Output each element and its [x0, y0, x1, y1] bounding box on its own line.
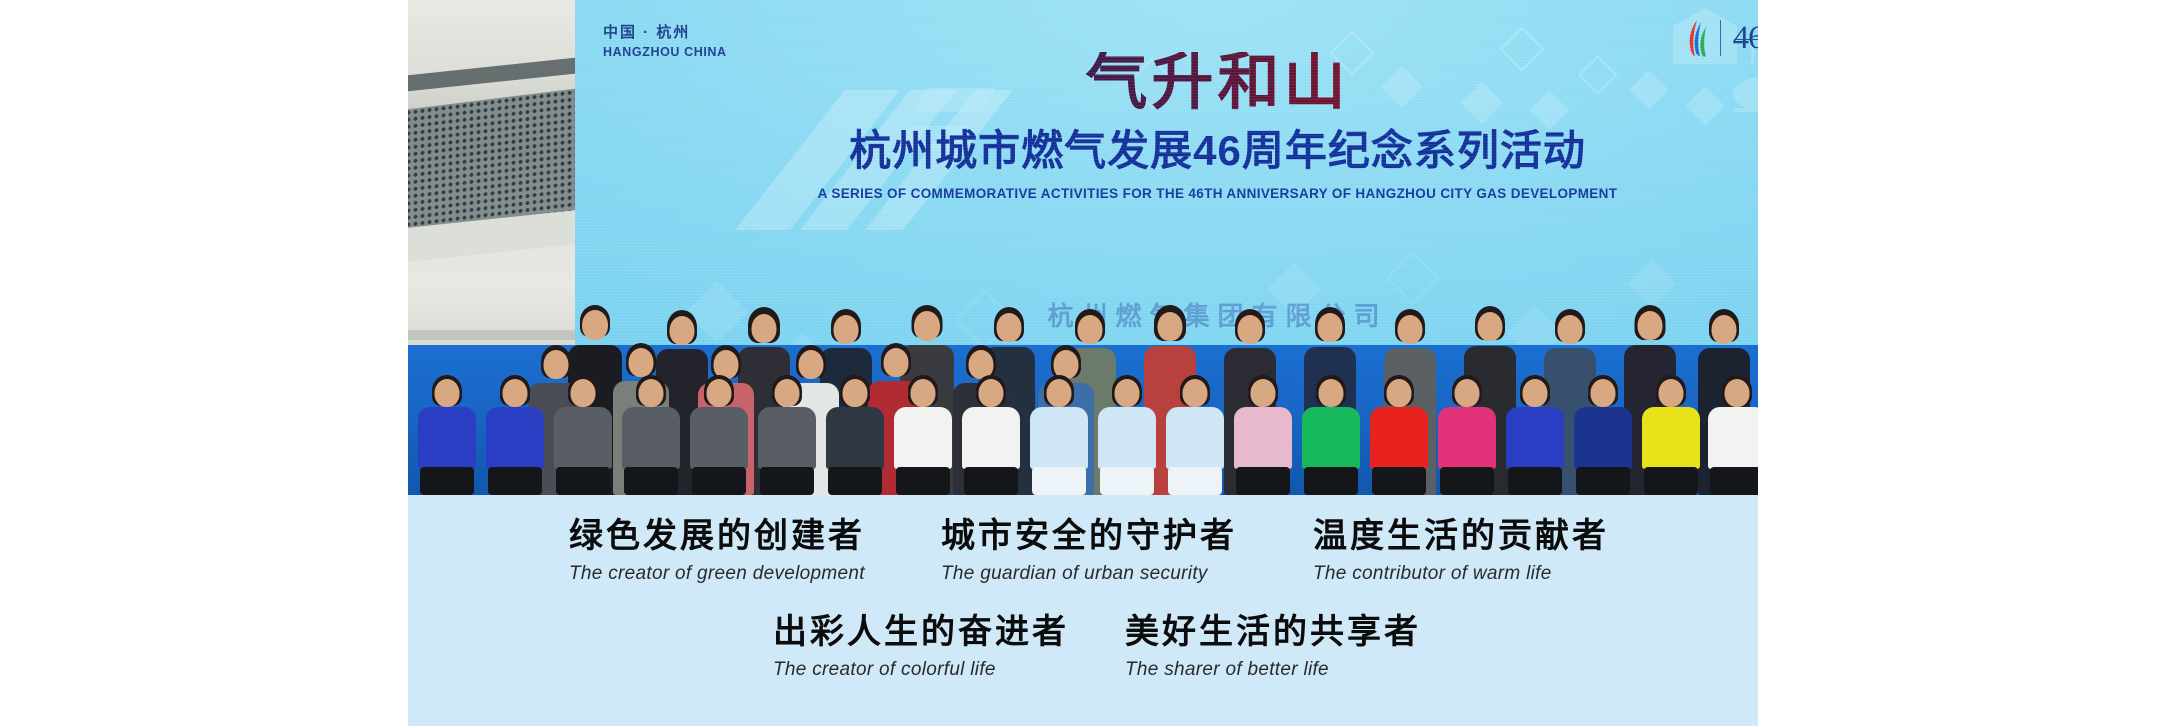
person-front-row [1574, 375, 1632, 495]
slogan-colorful-life: 出彩人生的奋进者 The creator of colorful life [773, 613, 1069, 681]
person-front-row [486, 375, 544, 495]
event-group-photo: 中国 · 杭州 HANGZHOU CHINA 46 杭州燃气 HANGZHOU … [408, 0, 1758, 495]
person-front-row [826, 375, 884, 495]
person-front-row [894, 375, 952, 495]
page-root: 中国 · 杭州 HANGZHOU CHINA 46 杭州燃气 HANGZHOU … [0, 0, 2179, 726]
person-front-row [962, 375, 1020, 495]
slogan-en: The sharer of better life [1125, 659, 1421, 681]
person-front-row [1642, 375, 1700, 495]
banner-location-cn: 中国 · 杭州 [603, 24, 727, 43]
slogan-cn: 美好生活的共享者 [1125, 613, 1421, 652]
person-front-row [1438, 375, 1496, 495]
logo-divider [1720, 20, 1721, 56]
slogan-row-2: 出彩人生的奋进者 The creator of colorful life 美好… [408, 613, 1758, 681]
person-front-row [1098, 375, 1156, 495]
person-front-row [1166, 375, 1224, 495]
slogan-en: The creator of green development [569, 563, 865, 585]
slogan-section: 绿色发展的创建者 The creator of green developmen… [408, 495, 1758, 726]
slogan-better-life: 美好生活的共享者 The sharer of better life [1125, 613, 1421, 681]
person-front-row [622, 375, 680, 495]
slogan-cn: 出彩人生的奋进者 [773, 613, 1069, 652]
person-front-row [418, 375, 476, 495]
slogan-en: The guardian of urban security [941, 563, 1237, 585]
slogan-urban-security: 城市安全的守护者 The guardian of urban security [941, 517, 1237, 585]
person-front-row [690, 375, 748, 495]
slogan-en: The creator of colorful life [773, 659, 1069, 681]
person-front-row [758, 375, 816, 495]
person-front-row [1370, 375, 1428, 495]
person-front-row [1506, 375, 1564, 495]
banner-art-title: 气升和山 [575, 52, 1758, 114]
logo-anniversary-number: 46 [1730, 22, 1758, 55]
person-front-row [1234, 375, 1292, 495]
slogan-cn: 绿色发展的创建者 [569, 517, 865, 556]
person-front-row [1708, 375, 1758, 495]
person-front-row [1302, 375, 1360, 495]
content-panel: 中国 · 杭州 HANGZHOU CHINA 46 杭州燃气 HANGZHOU … [408, 0, 1758, 726]
slogan-cn: 城市安全的守护者 [941, 517, 1237, 556]
slogan-green-development: 绿色发展的创建者 The creator of green developmen… [569, 517, 865, 585]
slogan-cn: 温度生活的贡献者 [1313, 517, 1609, 556]
slogan-row-1: 绿色发展的创建者 The creator of green developmen… [408, 517, 1758, 585]
crowd-group [408, 165, 1758, 495]
person-front-row [1030, 375, 1088, 495]
slogan-en: The contributor of warm life [1313, 563, 1609, 585]
person-front-row [554, 375, 612, 495]
slogan-warm-life: 温度生活的贡献者 The contributor of warm life [1313, 517, 1609, 585]
